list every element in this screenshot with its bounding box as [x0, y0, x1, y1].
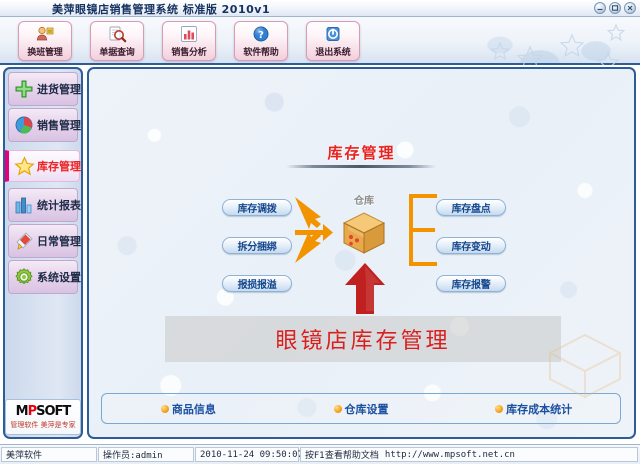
sidebar: 进货管理 销售管理 库存管理 [3, 67, 83, 439]
logo-text: M [16, 404, 28, 419]
action-loss-overflow[interactable]: 报损报溢 [222, 275, 292, 292]
action-label: 拆分捆绑 [238, 238, 277, 253]
logo-wordmark: MPSOFT [16, 405, 71, 418]
status-hint-and-url: 按F1查看帮助文档 http://www.mpsoft.net.cn [300, 447, 638, 462]
link-product-info[interactable]: 商品信息 [102, 401, 275, 417]
feature-banner: 眼镜店库存管理 [165, 316, 561, 362]
sidebar-item-label: 销售管理 [37, 117, 81, 133]
toolbar-button-sales-analysis[interactable]: 销售分析 [162, 21, 216, 61]
action-stock-count[interactable]: 库存盘点 [436, 199, 506, 216]
sidebar-item-label: 系统设置 [37, 269, 81, 285]
action-label: 报损报溢 [238, 276, 277, 291]
pie-chart-icon [13, 114, 35, 136]
link-label: 仓库设置 [345, 401, 389, 417]
bar-chart-icon [178, 24, 200, 44]
title-divider [286, 165, 436, 168]
action-stock-change[interactable]: 库存变动 [436, 237, 506, 254]
link-inventory-cost-stats[interactable]: 库存成本统计 [447, 401, 620, 417]
status-datetime: 2010-11-24 09:50:07 [195, 447, 299, 462]
bar-chart-icon [13, 194, 35, 216]
toolbar-button-shift-change[interactable]: 换班管理 [18, 21, 72, 61]
toolbar-button-exit[interactable]: 退出系统 [306, 21, 360, 61]
link-label: 库存成本统计 [506, 401, 572, 417]
application-window: 美萍眼镜店销售管理系统 标准版 2010v1 [0, 0, 640, 464]
status-operator: 操作员:admin [98, 447, 194, 462]
brand-logo: MPSOFT 管理软件 美萍是专家 [5, 399, 81, 435]
status-bar: 美萍软件 操作员:admin 2010-11-24 09:50:07 按F1查看… [0, 444, 640, 464]
green-plus-icon [13, 78, 35, 100]
sidebar-group-bottom: 统计报表 日常管理 [8, 188, 78, 294]
maximize-button[interactable] [609, 2, 621, 14]
orange-bullet-icon [495, 405, 503, 413]
orange-bullet-icon [334, 405, 342, 413]
sidebar-item-reports[interactable]: 统计报表 [8, 188, 78, 222]
hub-label: 仓库 [337, 192, 391, 207]
logo-tagline: 管理软件 美萍是专家 [10, 420, 75, 430]
sidebar-item-daily[interactable]: 日常管理 [8, 224, 78, 258]
search-document-icon [106, 24, 128, 44]
link-label: 商品信息 [172, 401, 216, 417]
action-split-bundle[interactable]: 拆分捆绑 [222, 237, 292, 254]
main-toolbar: 换班管理 单据查询 销售分析 [0, 17, 640, 65]
status-help-hint: 按F1查看帮助文档 [305, 448, 379, 461]
action-stock-transfer[interactable]: 库存调拨 [222, 199, 292, 216]
sidebar-item-label: 库存管理 [37, 158, 81, 174]
toolbar-label: 单据查询 [99, 45, 134, 58]
action-label: 库存报警 [452, 276, 491, 291]
action-stock-alert[interactable]: 库存报警 [436, 275, 506, 292]
toolbar-label: 退出系统 [315, 45, 350, 58]
page-title: 库存管理 [89, 142, 634, 163]
action-label: 库存调拨 [238, 200, 277, 215]
sidebar-item-inventory[interactable]: 库存管理 [5, 150, 80, 182]
title-bar: 美萍眼镜店销售管理系统 标准版 2010v1 [0, 0, 640, 17]
window-title: 美萍眼镜店销售管理系统 标准版 2010v1 [52, 1, 270, 17]
status-url: http://www.mpsoft.net.cn [385, 450, 515, 460]
cardboard-box-icon [338, 207, 390, 257]
red-up-arrow-icon [344, 262, 386, 315]
gear-icon [13, 266, 35, 288]
main-content-panel: 库存管理 库存调拨 拆分捆绑 报损报溢 库存盘点 库存变动 库存报警 [87, 67, 636, 439]
toolbar-label: 软件帮助 [243, 45, 278, 58]
svg-text:?: ? [258, 30, 264, 41]
sidebar-item-purchase[interactable]: 进货管理 [8, 72, 78, 106]
watermark-box-icon [542, 331, 628, 401]
banner-text: 眼镜店库存管理 [275, 323, 450, 355]
shift-change-icon [34, 24, 56, 44]
brush-icon [13, 230, 35, 252]
toolbar-button-help[interactable]: ? 软件帮助 [234, 21, 288, 61]
sidebar-item-sales[interactable]: 销售管理 [8, 108, 78, 142]
help-question-icon: ? [250, 24, 272, 44]
outbound-bracket [397, 193, 437, 267]
inbound-arrows [295, 195, 343, 265]
minimize-button[interactable] [594, 2, 606, 14]
toolbar-label: 换班管理 [27, 45, 62, 58]
action-label: 库存盘点 [452, 200, 491, 215]
power-exit-icon [322, 24, 344, 44]
logo-text-right: SOFT [36, 404, 70, 419]
sidebar-item-settings[interactable]: 系统设置 [8, 260, 78, 294]
sidebar-group-top: 进货管理 销售管理 [8, 72, 78, 142]
status-vendor: 美萍软件 [1, 447, 97, 462]
link-warehouse-settings[interactable]: 仓库设置 [275, 401, 448, 417]
yellow-star-icon [13, 155, 35, 177]
sidebar-item-label: 进货管理 [37, 81, 81, 97]
close-button[interactable] [624, 2, 636, 14]
orange-bullet-icon [161, 405, 169, 413]
logo-accent: P [28, 404, 37, 419]
action-label: 库存变动 [452, 238, 491, 253]
toolbar-button-document-query[interactable]: 单据查询 [90, 21, 144, 61]
sidebar-item-label: 统计报表 [37, 197, 81, 213]
window-controls [594, 2, 636, 14]
sidebar-item-label: 日常管理 [37, 233, 81, 249]
toolbar-label: 销售分析 [171, 45, 206, 58]
